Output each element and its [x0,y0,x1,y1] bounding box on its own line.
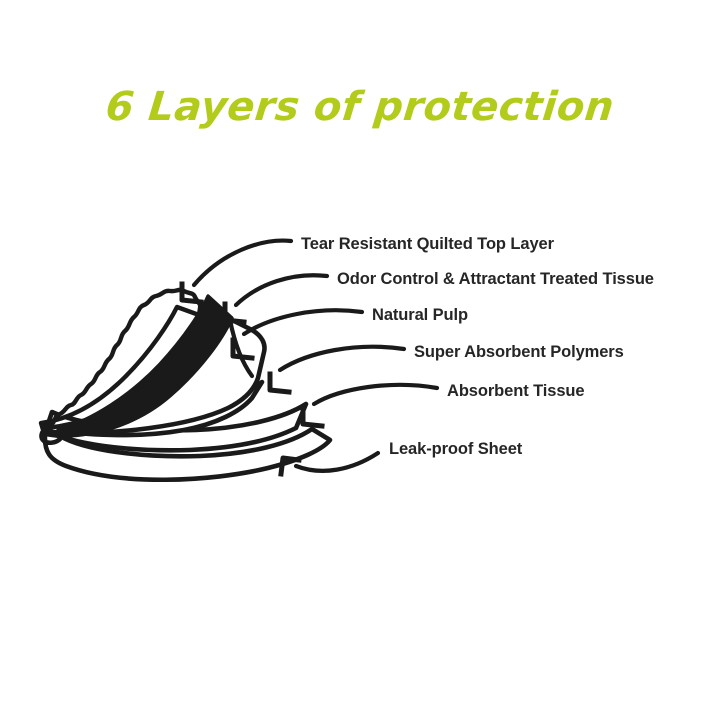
callout-label-leak-proof-sheet: Leak-proof Sheet [389,441,522,458]
callout-label-absorbent-tissue: Absorbent Tissue [447,383,584,400]
callout-label-natural-pulp: Natural Pulp [372,307,468,324]
infographic-root: 6 Layers of protection [0,0,720,720]
callout-label-tear-resistant-quilted-top-layer: Tear Resistant Quilted Top Layer [301,236,554,253]
leader-line-3 [244,310,362,334]
leader-line-1 [194,241,291,285]
arrowhead-5 [303,408,322,426]
callout-label-odor-control-attractant-treated-tissue: Odor Control & Attractant Treated Tissue [337,271,654,288]
callout-label-super-absorbent-polymers: Super Absorbent Polymers [414,344,624,361]
leader-line-4 [280,347,404,370]
leader-line-5 [314,385,437,404]
arrowhead-4 [270,374,289,392]
leader-line-2 [236,275,327,305]
